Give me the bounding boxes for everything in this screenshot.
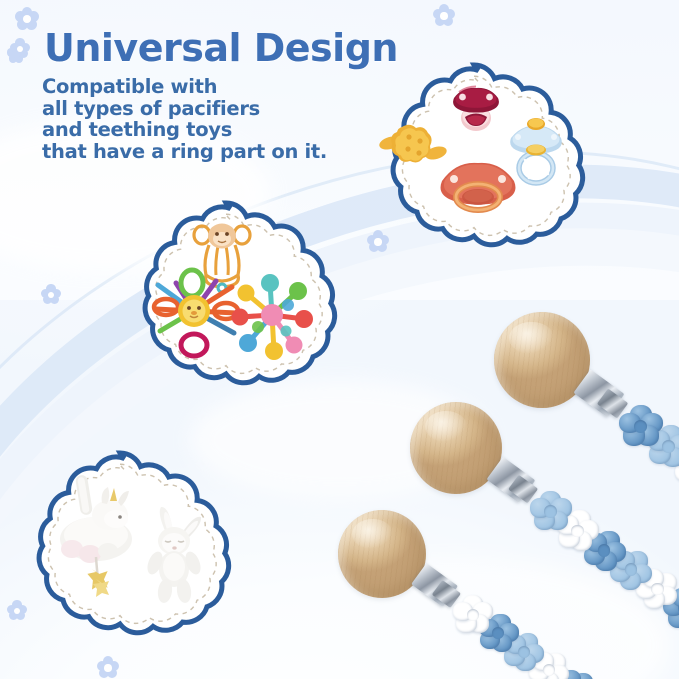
rattle-molecule: [230, 271, 314, 359]
crochet-flower-center: [544, 505, 557, 518]
bead-highlight: [509, 322, 553, 355]
deco-flower-top-left: [14, 6, 40, 32]
crochet-flower: [619, 404, 663, 448]
flower-center: [23, 15, 31, 23]
cloud-rattles: [120, 193, 332, 405]
subtitle-line-3: and teething toys: [42, 119, 327, 141]
plush-unicorn-star: [50, 471, 142, 601]
deco-flower-title-left: [9, 38, 31, 60]
subtitle-line-4: that have a ring part on it.: [42, 141, 327, 163]
cloud-pacifiers: [368, 55, 580, 267]
crochet-flower-center: [625, 563, 638, 576]
pacifier-yellow-teether: [378, 117, 448, 173]
crochet-flower-center: [518, 646, 530, 658]
crochet-flower: [530, 490, 572, 532]
flower-center: [104, 664, 111, 671]
subtitle-line-2: all types of pacifiers: [42, 98, 327, 120]
pacifier-maroon: [448, 81, 504, 135]
plush-bunny: [140, 505, 212, 605]
crochet-flower: [452, 594, 492, 634]
deco-flower-left-mid: [40, 284, 62, 306]
crochet-flower-center: [598, 544, 611, 557]
page-title: Universal Design: [44, 26, 398, 70]
crochet-flower-center: [571, 525, 584, 538]
deco-flower-top-right: [432, 4, 456, 28]
infographic-canvas: Universal Design Compatible with all typ…: [0, 0, 679, 679]
cloud-plush: [14, 443, 226, 655]
page-subtitle: Compatible with all types of pacifiers a…: [42, 76, 327, 162]
deco-flower-bottom-left-two: [96, 656, 120, 679]
flower-center: [440, 12, 447, 19]
subtitle-line-1: Compatible with: [42, 76, 327, 98]
crochet-flower-center: [467, 609, 479, 621]
bead-highlight: [352, 519, 392, 549]
